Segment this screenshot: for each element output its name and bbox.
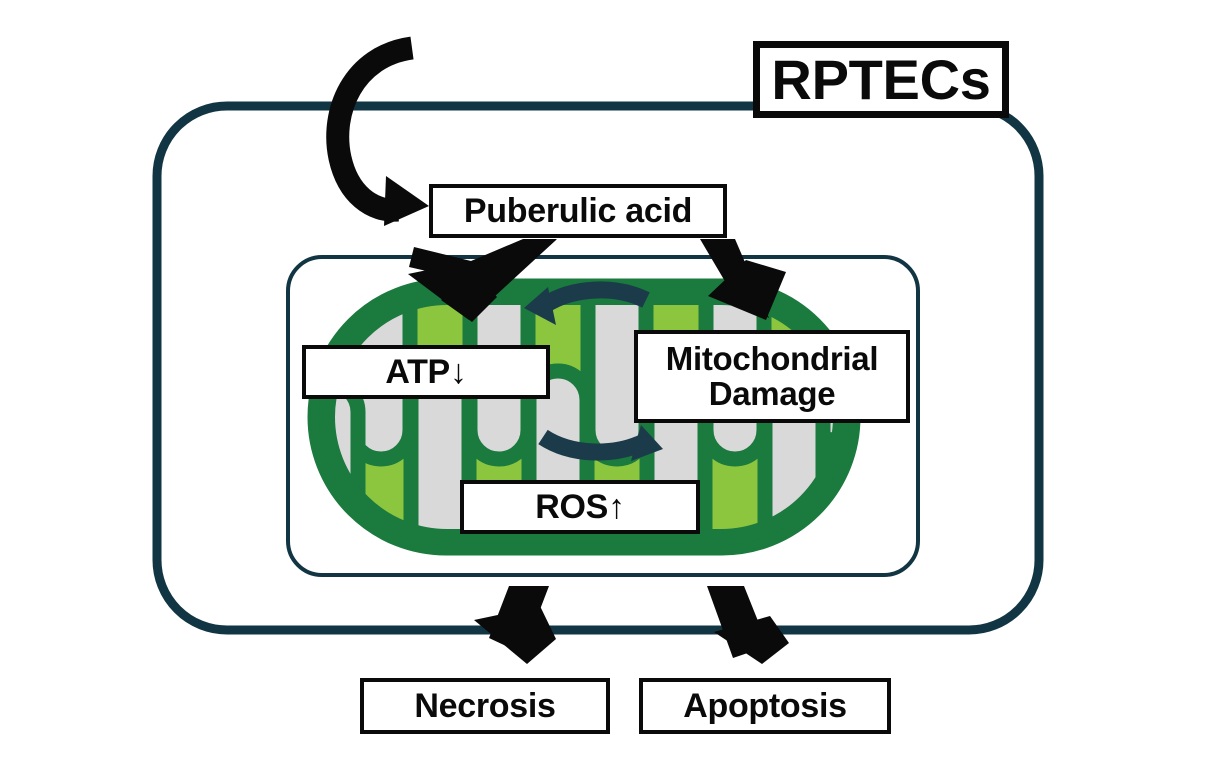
block-arrow-to-necrosis-head	[474, 606, 556, 664]
mitochondrial-damage-label-line1: Mitochondrial	[666, 342, 878, 377]
necrosis-label-box: Necrosis	[360, 678, 610, 734]
ros-cycle-arrows	[543, 290, 646, 452]
curved-uptake-arrow-head	[384, 176, 429, 226]
rptecs-label-box: RPTECs	[753, 41, 1009, 118]
atp-decrease-label-text: ATP↓	[385, 354, 466, 390]
apoptosis-label-text: Apoptosis	[683, 688, 847, 724]
mitochondrial-damage-label-line2: Damage	[709, 377, 836, 412]
diagram-canvas: RPTECs Puberulic acid ATP↓ Mitochondrial…	[0, 0, 1210, 758]
necrosis-label-text: Necrosis	[414, 688, 555, 724]
curved-cycle-arrow-left-path	[545, 290, 646, 305]
puberulic-acid-label-text: Puberulic acid	[464, 193, 692, 229]
block-arrow-to-mito	[700, 239, 786, 320]
block-arrow-to-apoptosis	[707, 586, 789, 664]
ros-increase-label-text: ROS↑	[535, 489, 624, 525]
rptecs-label-text: RPTECs	[771, 50, 990, 109]
atp-decrease-label-box: ATP↓	[302, 345, 550, 399]
block-arrow-to-necrosis	[474, 586, 556, 664]
ros-increase-label-box: ROS↑	[460, 480, 700, 534]
arrows-layer	[0, 0, 1210, 758]
mitochondrial-damage-label-box: Mitochondrial Damage	[634, 330, 910, 423]
curved-uptake-arrow-body	[338, 48, 412, 210]
puberulic-acid-label-box: Puberulic acid	[429, 184, 727, 238]
curved-cycle-arrow-right-path	[543, 437, 644, 452]
apoptosis-label-box: Apoptosis	[639, 678, 891, 734]
